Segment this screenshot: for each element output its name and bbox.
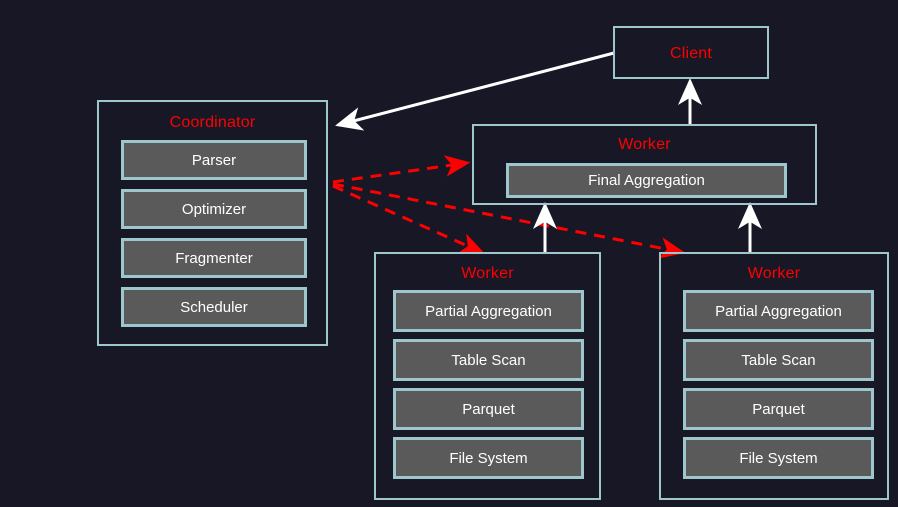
component-partial-aggregation-right[interactable]: Partial Aggregation — [683, 290, 874, 332]
component-table-scan-left[interactable]: Table Scan — [393, 339, 584, 381]
component-partial-aggregation-left[interactable]: Partial Aggregation — [393, 290, 584, 332]
architecture-diagram: Client Coordinator Parser Optimizer Frag… — [0, 0, 898, 507]
node-worker-left[interactable]: Worker Partial Aggregation Table Scan Pa… — [374, 252, 601, 500]
component-final-aggregation[interactable]: Final Aggregation — [506, 163, 787, 198]
edge-coordinator-to-worker-left — [333, 186, 481, 252]
node-coordinator[interactable]: Coordinator Parser Optimizer Fragmenter … — [97, 100, 328, 346]
component-parquet-right[interactable]: Parquet — [683, 388, 874, 430]
component-file-system-left[interactable]: File System — [393, 437, 584, 479]
node-worker-final-label: Worker — [474, 136, 815, 154]
component-parquet-left[interactable]: Parquet — [393, 388, 584, 430]
node-worker-right-label: Worker — [661, 265, 887, 283]
component-parser[interactable]: Parser — [121, 140, 307, 180]
node-client-label: Client — [615, 45, 767, 63]
edge-client-to-coordinator — [338, 53, 614, 125]
node-worker-left-label: Worker — [376, 265, 599, 283]
component-scheduler[interactable]: Scheduler — [121, 287, 307, 327]
component-table-scan-right[interactable]: Table Scan — [683, 339, 874, 381]
edge-coordinator-to-worker-final — [333, 163, 466, 182]
node-client[interactable]: Client — [613, 26, 769, 79]
node-worker-final[interactable]: Worker Final Aggregation — [472, 124, 817, 205]
node-worker-right[interactable]: Worker Partial Aggregation Table Scan Pa… — [659, 252, 889, 500]
component-file-system-right[interactable]: File System — [683, 437, 874, 479]
component-fragmenter[interactable]: Fragmenter — [121, 238, 307, 278]
node-coordinator-label: Coordinator — [99, 114, 326, 132]
component-optimizer[interactable]: Optimizer — [121, 189, 307, 229]
